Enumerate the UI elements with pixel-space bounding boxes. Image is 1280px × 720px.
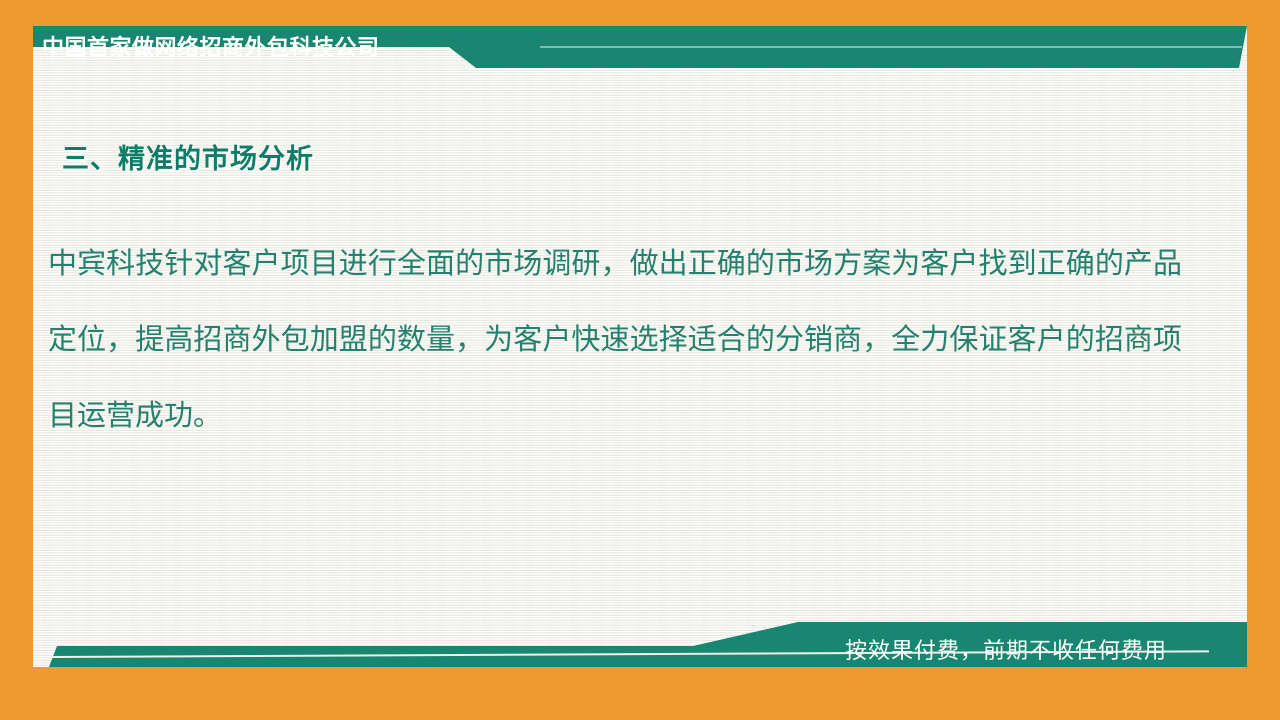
- header-accent-line: [540, 46, 1242, 48]
- body-paragraph-block: 中宾科技针对客户项目进行全面的市场调研，做出正确的市场方案为客户找到正确的产品定…: [48, 226, 1182, 454]
- company-tagline: 中国首家做网络招商外包科技公司: [42, 30, 380, 66]
- presentation-slide: 中国首家做网络招商外包科技公司 三、精准的市场分析 中宾科技针对客户项目进行全面…: [0, 0, 1280, 720]
- section-heading: 三、精准的市场分析: [62, 137, 314, 176]
- body-paragraph: 中宾科技针对客户项目进行全面的市场调研，做出正确的市场方案为客户找到正确的产品定…: [48, 226, 1182, 454]
- footer-slogan: 按效果付费，前期不收任何费用: [845, 636, 1167, 666]
